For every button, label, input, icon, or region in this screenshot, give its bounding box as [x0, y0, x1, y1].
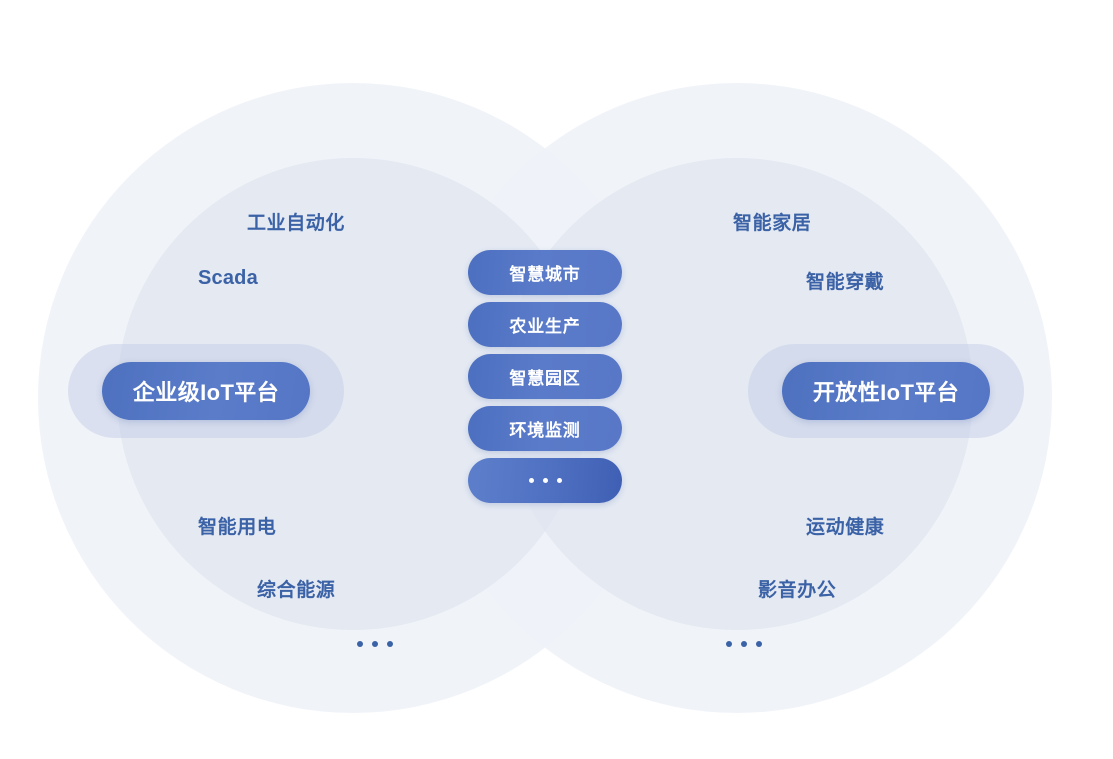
intersection-chip-more[interactable]	[468, 458, 622, 503]
intersection-chip-environment-monitoring[interactable]: 环境监测	[468, 406, 622, 451]
left-set-more-ellipsis-icon	[357, 641, 393, 647]
right-keyword-sports-health: 运动健康	[806, 512, 884, 539]
intersection-chip-stack: 智慧城市 农业生产 智慧园区 环境监测	[468, 250, 622, 503]
left-keyword-integrated-energy: 综合能源	[257, 575, 335, 602]
left-keyword-scada: Scada	[198, 267, 258, 290]
right-set-more-ellipsis-icon	[726, 641, 762, 647]
left-platform-halo: 企业级IoT平台	[68, 344, 344, 438]
intersection-chip-smart-city[interactable]: 智慧城市	[468, 250, 622, 295]
right-keyword-smart-home: 智能家居	[733, 208, 811, 235]
right-keyword-av-office: 影音办公	[758, 575, 836, 602]
open-iot-platform-chip[interactable]: 开放性IoT平台	[782, 362, 990, 420]
right-platform-halo: 开放性IoT平台	[748, 344, 1024, 438]
venn-diagram-canvas: 工业自动化 Scada 智能用电 综合能源 智能家居 智能穿戴 运动健康 影音办…	[0, 0, 1113, 759]
intersection-chip-smart-park[interactable]: 智慧园区	[468, 354, 622, 399]
intersection-chip-agriculture[interactable]: 农业生产	[468, 302, 622, 347]
left-keyword-industrial-automation: 工业自动化	[247, 208, 345, 235]
left-keyword-smart-electricity: 智能用电	[198, 512, 276, 539]
more-ellipsis-icon	[529, 478, 562, 483]
enterprise-iot-platform-chip[interactable]: 企业级IoT平台	[102, 362, 310, 420]
right-keyword-smart-wearables: 智能穿戴	[806, 267, 884, 294]
